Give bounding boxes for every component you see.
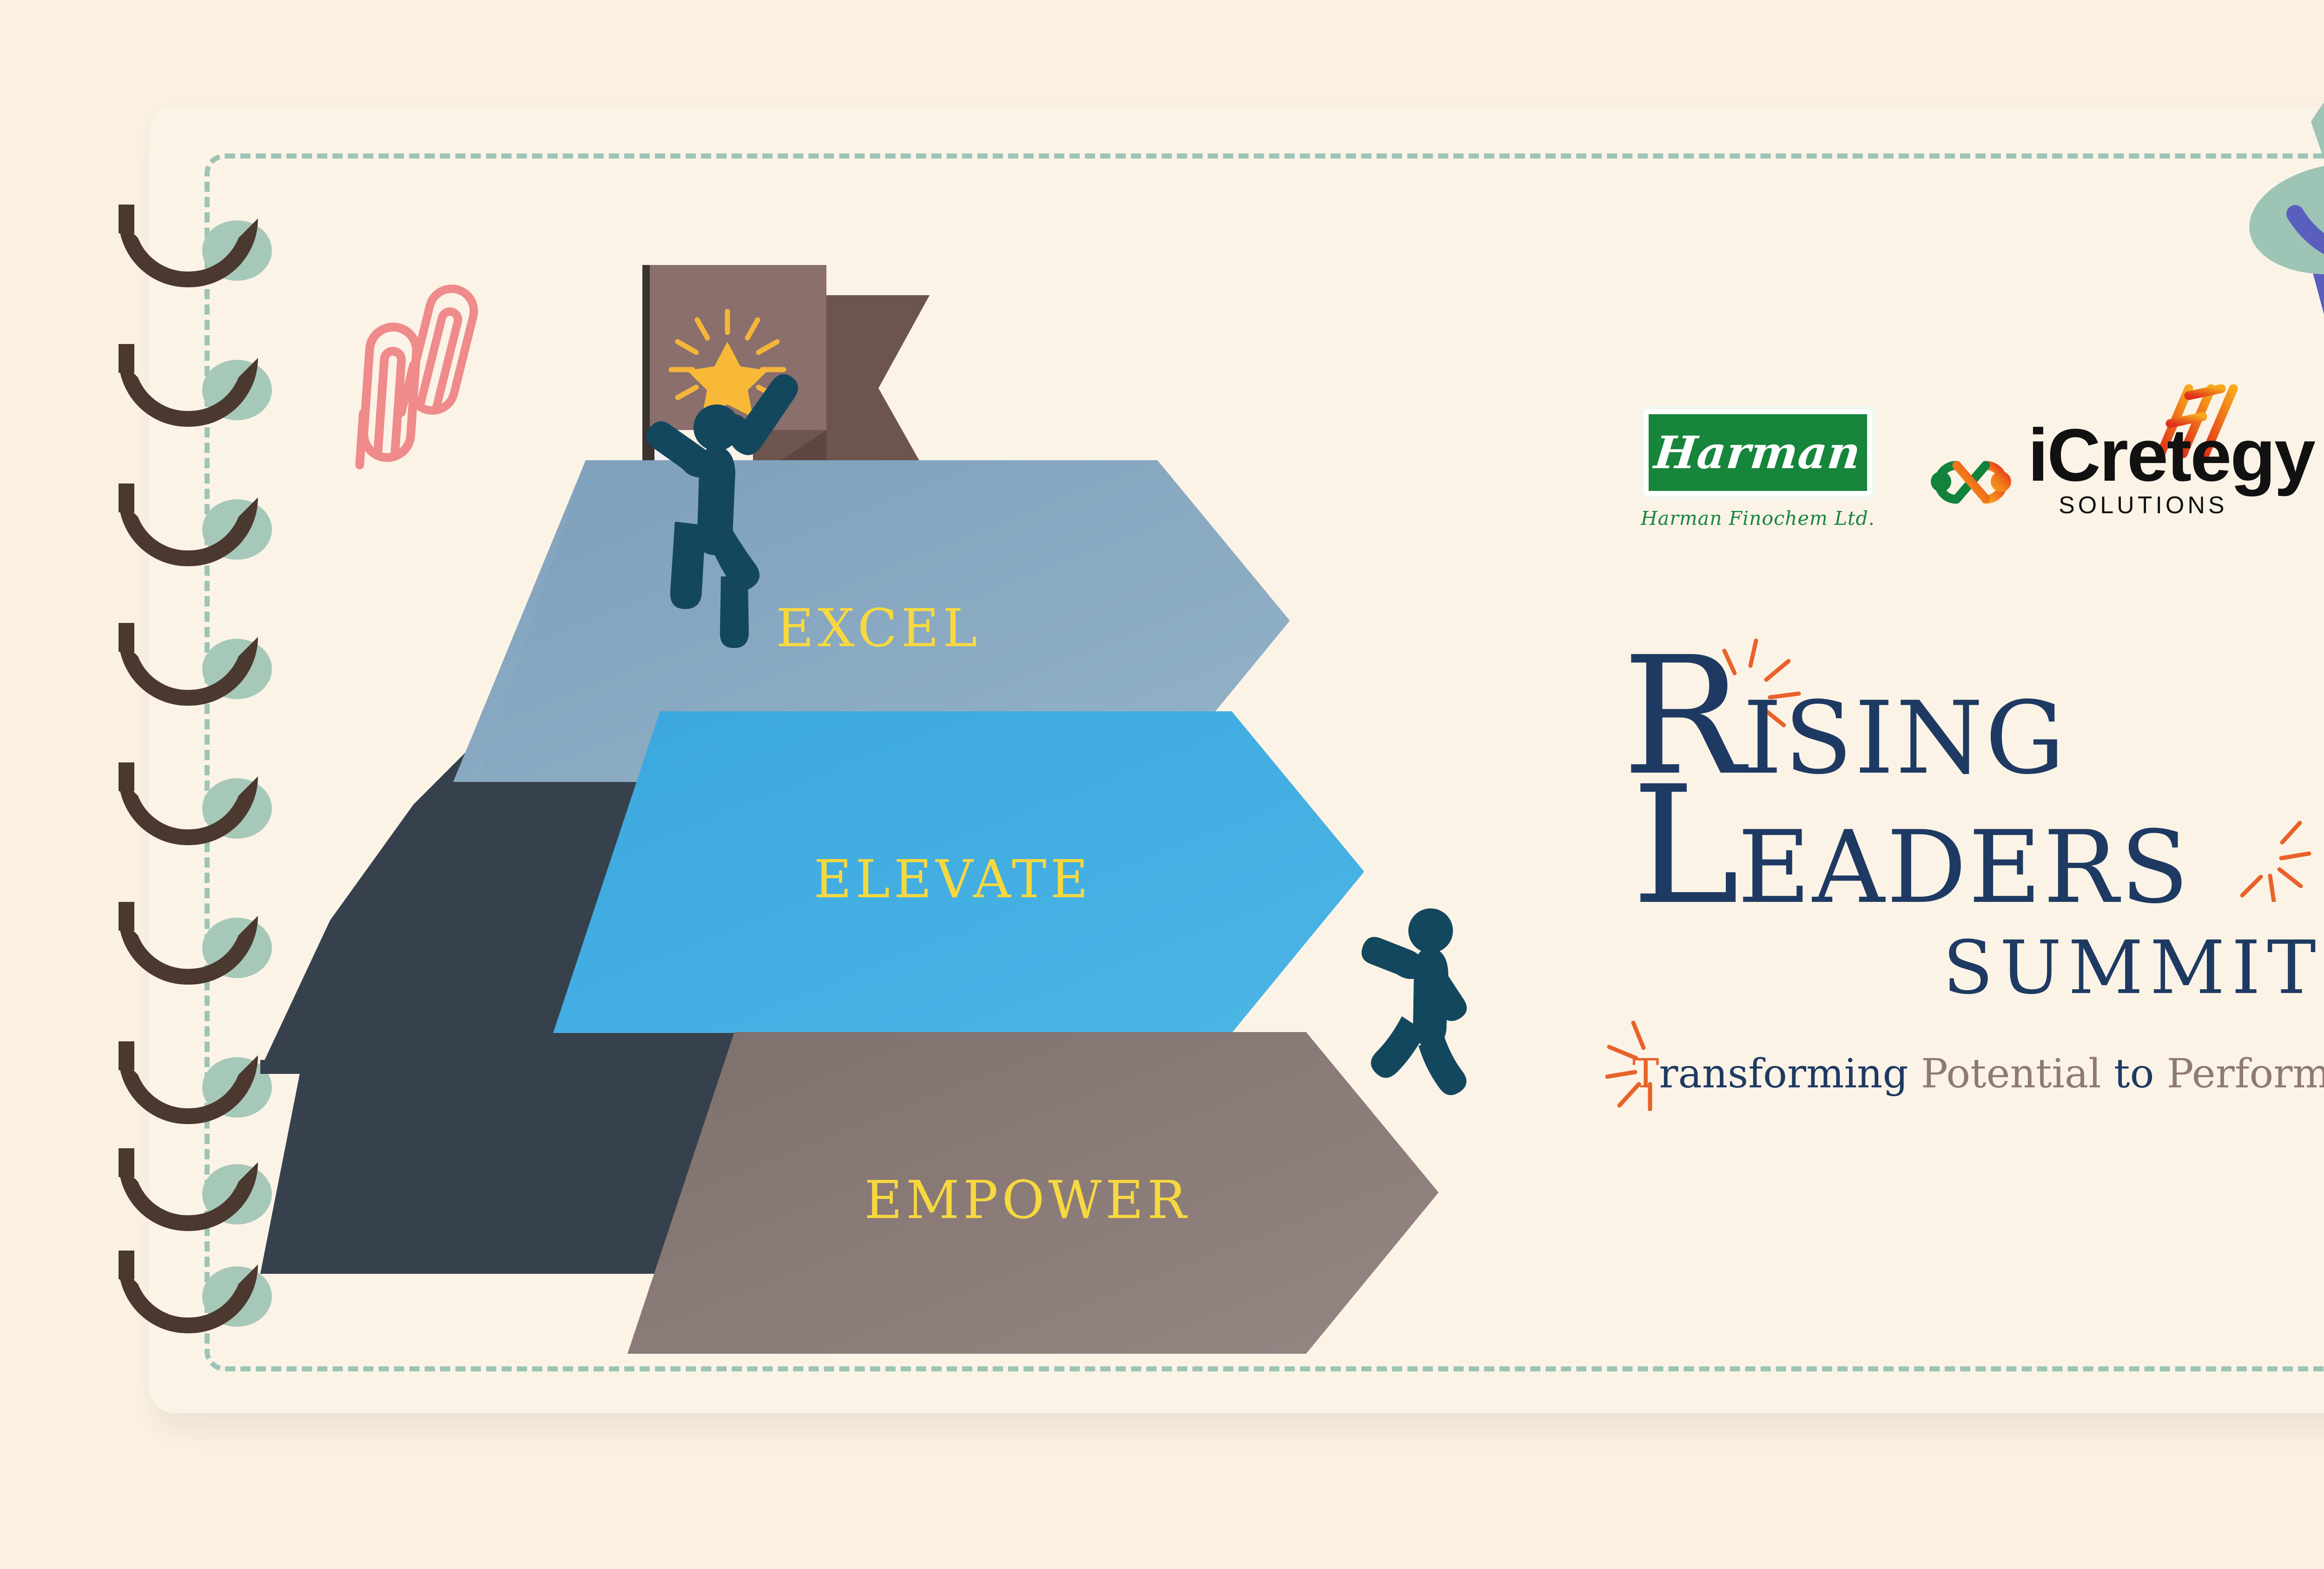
walking-figure-icon — [1361, 908, 1466, 1095]
tagline-word-3: to — [2114, 1051, 2154, 1097]
mountain-step-illustration: EXCEL ELEVATE EMPOWER — [260, 200, 1608, 1362]
tagline: Transforming Potential to Performance — [1622, 1051, 2324, 1097]
title-block: RISING LEADERS SUMMIT Transforming Poten… — [1622, 642, 2324, 1097]
harman-logo: Harman Harman Finochem Ltd. — [1641, 409, 1875, 530]
title-rest-leaders: EADERS — [1737, 809, 2191, 926]
spark-burst-icon — [1605, 1018, 1698, 1113]
title-dropcap-l: L — [1631, 751, 1737, 940]
spiral-ring — [119, 1264, 272, 1334]
pushpin-icon — [2226, 37, 2324, 328]
infinity-logo-icon — [1931, 447, 2012, 519]
spiral-ring — [119, 916, 272, 986]
step-label-excel: EXCEL — [776, 598, 981, 659]
tagline-word-4: Performance — [2154, 1051, 2324, 1097]
title-line-leaders: LEADERS — [1622, 771, 2324, 920]
spiral-ring — [119, 218, 272, 288]
partner-logos: Harman Harman Finochem Ltd. — [1641, 409, 2314, 530]
spiral-ring — [119, 497, 272, 567]
poster-canvas: EXCEL ELEVATE EMPOWER — [0, 0, 2324, 1569]
icretegy-logo: iCretegy SOLUTIONS — [1931, 420, 2314, 519]
spiral-ring — [119, 1162, 272, 1232]
harman-wordmark: Harman — [1652, 426, 1863, 479]
spiral-ring — [119, 358, 272, 428]
step-label-elevate: ELEVATE — [814, 849, 1092, 910]
spiral-ring — [119, 1055, 272, 1125]
spiral-ring — [119, 776, 272, 846]
tagline-word-2: Potential — [1908, 1051, 2114, 1097]
harman-logo-box: Harman — [1644, 409, 1872, 496]
step-label-empower: EMPOWER — [865, 1170, 1190, 1231]
harman-subtitle: Harman Finochem Ltd. — [1641, 507, 1875, 530]
spiral-ring — [119, 637, 272, 707]
icretegy-wordmark: iCretegy — [2028, 420, 2314, 490]
